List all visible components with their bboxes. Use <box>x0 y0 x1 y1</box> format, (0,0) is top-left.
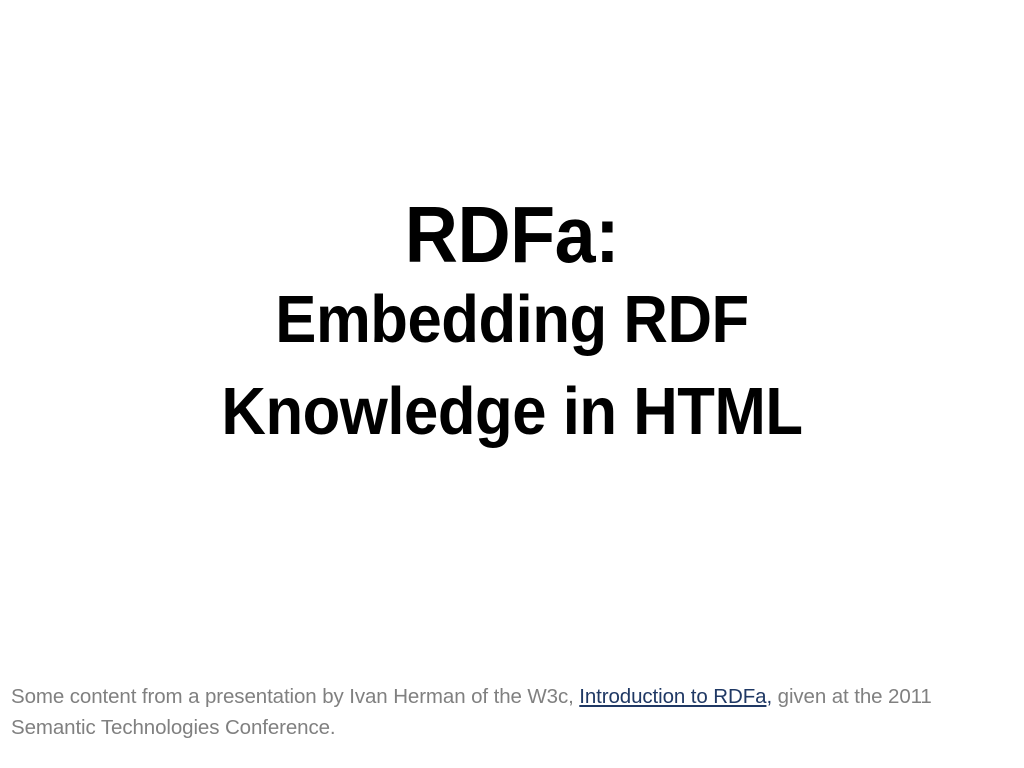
title-block: RDFa: Embedding RDF Knowledge in HTML <box>0 196 1024 457</box>
credit-prefix-text: Some content from a presentation by Ivan… <box>11 685 579 708</box>
page-subtitle-line-1: Embedding RDF <box>41 274 983 366</box>
introduction-to-rdfa-link[interactable]: Introduction to RDFa <box>579 685 766 708</box>
presentation-slide: RDFa: Embedding RDF Knowledge in HTML So… <box>0 0 1024 768</box>
credit-note: Some content from a presentation by Ivan… <box>11 681 971 743</box>
page-subtitle-line-2: Knowledge in HTML <box>41 367 983 457</box>
page-title: RDFa: <box>41 196 983 274</box>
